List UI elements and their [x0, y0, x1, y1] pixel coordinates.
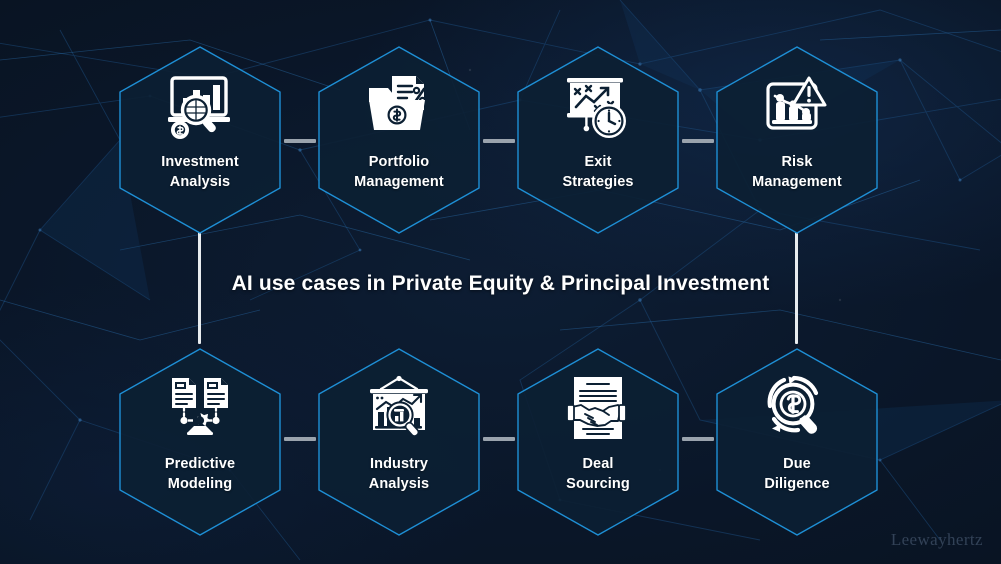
hex-card-predictive-modeling[interactable]: Predictive Modeling [116, 346, 284, 538]
connector-top-1-2 [284, 139, 316, 143]
hex-label: Predictive Modeling [165, 454, 235, 494]
connector-bottom-1-2 [284, 437, 316, 441]
connector-bottom-3-4 [682, 437, 714, 441]
hex-card-deal-sourcing[interactable]: Deal Sourcing [514, 346, 682, 538]
portfolio-management-icon [362, 72, 436, 142]
connector-bottom-2-3 [483, 437, 515, 441]
hex-label: Portfolio Management [354, 152, 444, 192]
hex-label: Investment Analysis [161, 152, 239, 192]
hex-card-investment-analysis[interactable]: Investment Analysis [116, 44, 284, 236]
industry-analysis-icon [362, 374, 436, 444]
hex-card-due-diligence[interactable]: Due Diligence [713, 346, 881, 538]
predictive-modeling-icon [163, 374, 237, 444]
exit-strategies-icon [561, 72, 635, 142]
connector-top-3-4 [682, 139, 714, 143]
deal-sourcing-icon [561, 374, 635, 444]
hex-label: Industry Analysis [369, 454, 429, 494]
hex-card-industry-analysis[interactable]: Industry Analysis [315, 346, 483, 538]
connector-top-2-3 [483, 139, 515, 143]
hex-card-portfolio-management[interactable]: Portfolio Management [315, 44, 483, 236]
hex-label: Exit Strategies [562, 152, 633, 192]
hex-card-exit-strategies[interactable]: Exit Strategies [514, 44, 682, 236]
hex-label: Due Diligence [764, 454, 829, 494]
investment-analysis-icon [163, 72, 237, 142]
due-diligence-icon [760, 374, 834, 444]
risk-management-icon [760, 72, 834, 142]
hex-label: Risk Management [752, 152, 842, 192]
hex-card-risk-management[interactable]: Risk Management [713, 44, 881, 236]
infographic-canvas: Investment Analysis [0, 0, 1001, 564]
watermark-leewayhertz: Leewayhertz [891, 530, 983, 550]
page-title: AI use cases in Private Equity & Princip… [0, 272, 1001, 296]
hex-label: Deal Sourcing [566, 454, 630, 494]
